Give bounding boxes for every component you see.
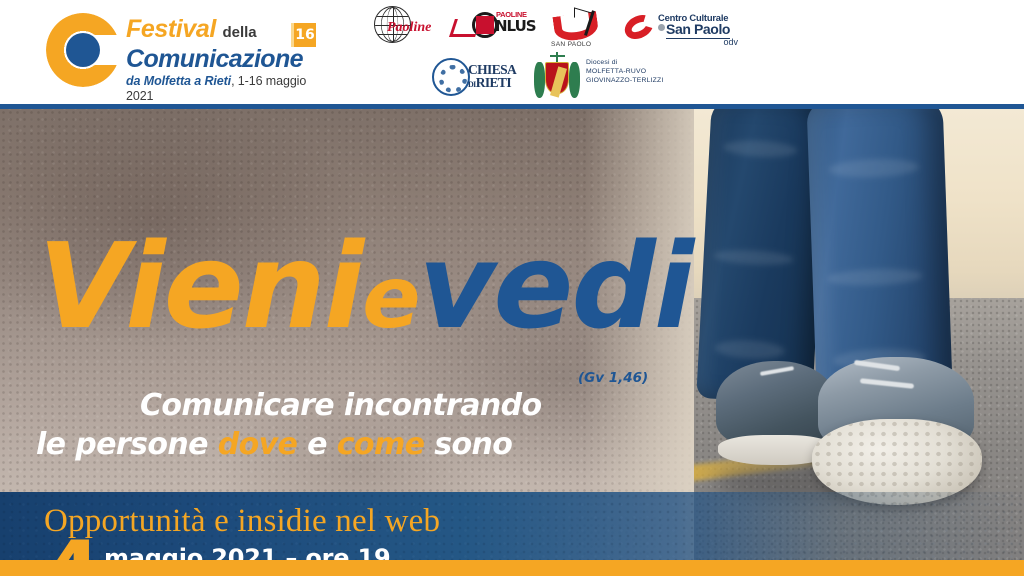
event-day-number: 4 [42,530,102,560]
hero-subtitle: Comunicare incontrando le persone dove e… [0,387,600,465]
subtitle-highlight-come: come [337,427,425,462]
hero-word-e: e [362,248,418,348]
festival-c-mark-icon [46,13,120,87]
diocesi-line3: GIOVINAZZO-TERLIZZI [586,76,663,85]
event-info-panel: Opportunità e insidie nel web 4 maggio 2… [0,492,1024,560]
centro-dot-icon [658,24,665,31]
festival-word-della: della [222,24,256,41]
onlus-red-square-icon [476,16,494,34]
event-dateline: maggio 2021 – ore 19 [104,544,391,560]
subtitle-highlight-dove: dove [218,427,298,462]
red-c-icon [621,10,658,44]
subtitle-line-2-c: sono [424,427,512,462]
festival-word-comunicazione: Comunicazione [126,46,336,73]
san-paolo-caption: SAN PAOLO [551,41,591,49]
hero-headline: Vienievedi (Gv 1,46) [0,227,700,397]
diocesi-line1: Diocesi di [586,58,663,67]
hero-word-vedi: vedi [419,217,693,355]
centro-line3: odv [723,37,738,47]
event-topic: Opportunità e insidie nel web [44,502,440,540]
poster-header: Festival della Comunicazione da Molfetta… [0,0,1024,106]
subtitle-line-2-a: le persone [36,427,218,462]
paoline-wordmark: Paoline [387,20,431,36]
partner-logo-centro-culturale: Centro Culturale San Paolo odv [624,12,742,46]
hero-word-vieni: Vieni [38,217,362,355]
chiesa-line2-small: DI [468,80,476,89]
onlus-wordmark: NLUS [495,17,536,35]
centro-line2: San Paolo [666,21,730,39]
subtitle-line-1: Comunicare incontrando [140,387,600,425]
scripture-reference: (Gv 1,46) [578,370,648,386]
bottom-accent-strip [0,560,1024,576]
festival-logo: Festival della Comunicazione da Molfetta… [46,10,326,98]
partner-logo-onlus: PAOLINE NLUS [452,11,538,47]
subtitle-line-2-b: e [297,427,336,462]
festival-route: da Molfetta a Rieti [126,74,231,88]
event-poster: Festival della Comunicazione da Molfetta… [0,0,1024,576]
diocesi-line2: MOLFETTA-RUVO [586,67,663,76]
partner-logo-san-paolo: SAN PAOLO [548,10,622,52]
partner-logo-paoline: Paoline [374,6,442,48]
partner-logos: Paoline PAOLINE NLUS SAN PAOLO Centro Cu… [352,2,712,104]
partner-logo-diocesi: Diocesi di MOLFETTA-RUVO GIOVINAZZO-TERL… [520,54,710,104]
chiesa-line2: RIETI [476,75,511,90]
edition-badge: 16 [294,23,316,47]
festival-word-festival: Festival [126,15,216,43]
poster-artwork: Vienievedi (Gv 1,46) Comunicare incontra… [0,109,1024,560]
coat-of-arms-icon [534,54,580,102]
chiesa-circle-icon [432,58,470,96]
